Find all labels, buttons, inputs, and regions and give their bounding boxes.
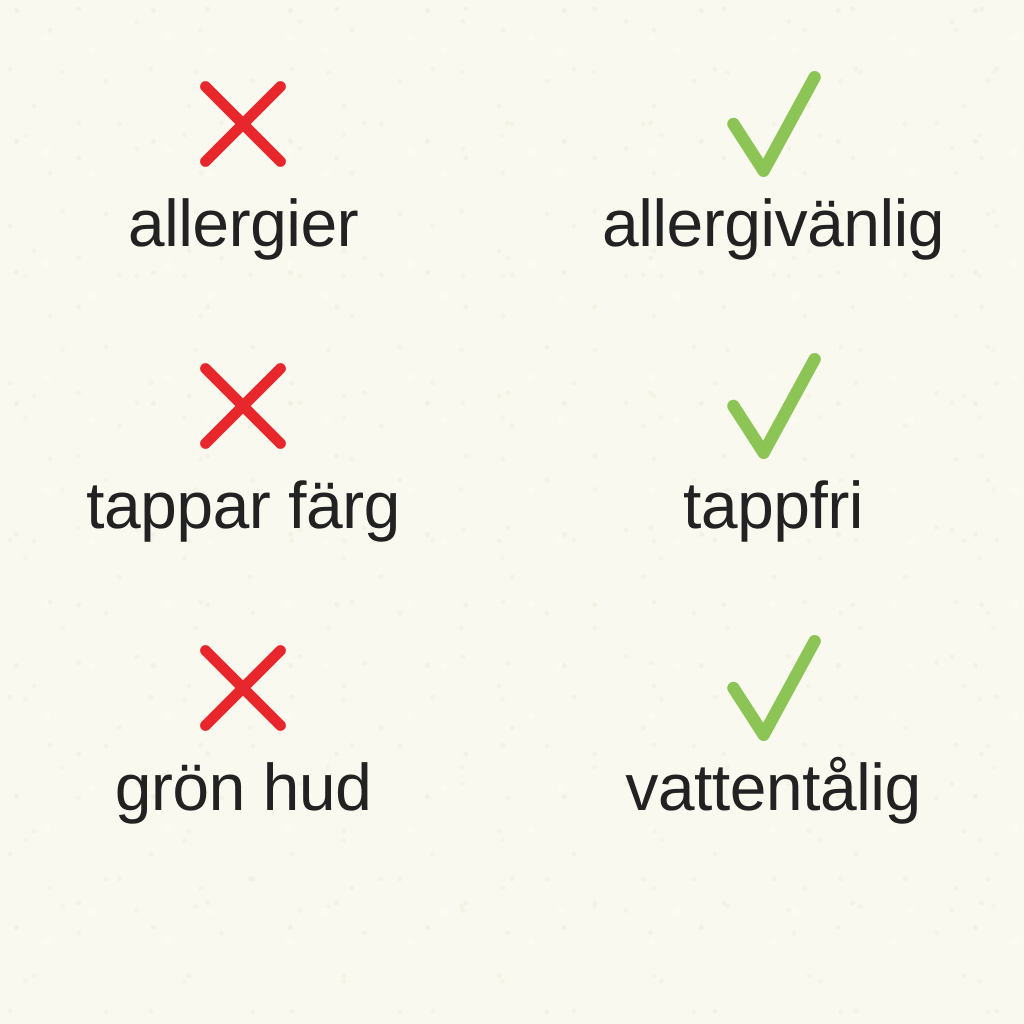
check-icon	[721, 636, 825, 740]
feature-label: vattentålig	[625, 754, 920, 820]
cross-icon	[191, 636, 295, 740]
feature-cell-positive-2: tappfri	[512, 328, 1024, 610]
feature-cell-negative-1: allergier	[0, 46, 512, 328]
feature-comparison-grid: allergier allergivänlig tappar färg	[0, 0, 1024, 1024]
feature-label: allergivänlig	[602, 190, 944, 256]
comparison-poster: allergier allergivänlig tappar färg	[0, 0, 1024, 1024]
feature-cell-negative-2: tappar färg	[0, 328, 512, 610]
feature-cell-positive-3: vattentålig	[512, 610, 1024, 892]
cross-icon	[191, 354, 295, 458]
feature-cell-positive-1: allergivänlig	[512, 46, 1024, 328]
feature-cell-negative-3: grön hud	[0, 610, 512, 892]
cross-icon	[191, 72, 295, 176]
check-icon	[721, 72, 825, 176]
check-icon	[721, 354, 825, 458]
feature-label: grön hud	[115, 754, 372, 820]
feature-label: tappfri	[683, 472, 863, 538]
feature-label: tappar färg	[86, 472, 400, 538]
feature-label: allergier	[128, 190, 358, 256]
